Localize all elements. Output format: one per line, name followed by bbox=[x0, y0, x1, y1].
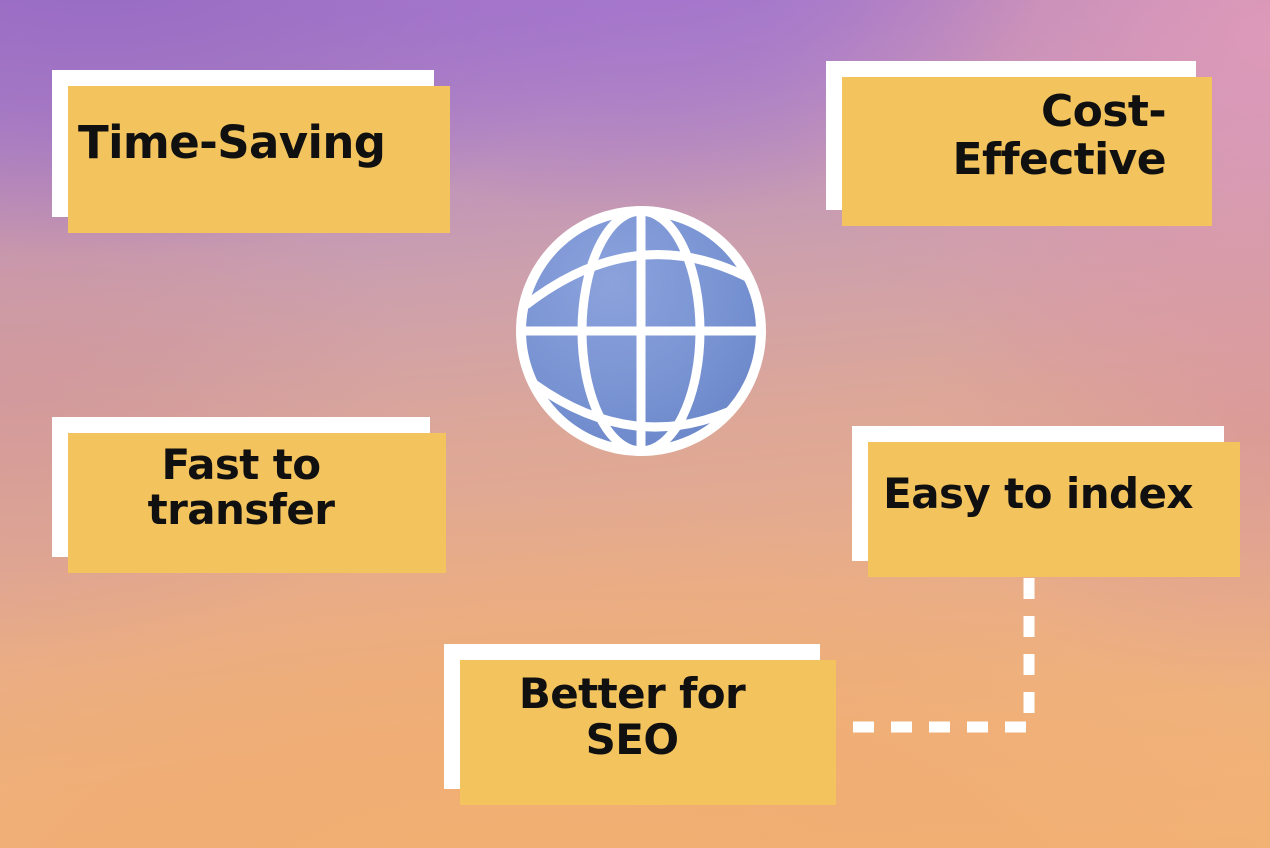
infographic-canvas: Time-Saving Cost- Effective Fast to tran… bbox=[0, 0, 1270, 848]
benefit-card-fast-to-transfer[interactable]: Fast to transfer bbox=[52, 417, 430, 557]
benefit-card-easy-to-index[interactable]: Easy to index bbox=[852, 426, 1224, 561]
benefit-card-better-for-seo[interactable]: Better for SEO bbox=[444, 644, 820, 789]
benefit-card-time-saving[interactable]: Time-Saving bbox=[52, 70, 434, 217]
dashed-connector-path bbox=[830, 578, 1029, 727]
benefit-card-label: Time-Saving bbox=[78, 119, 408, 168]
benefit-card-label: Easy to index bbox=[870, 471, 1206, 516]
benefit-card-cost-effective[interactable]: Cost- Effective bbox=[826, 61, 1196, 210]
benefit-card-label: Cost- Effective bbox=[852, 88, 1166, 183]
benefit-card-label: Fast to transfer bbox=[78, 442, 404, 533]
globe-icon bbox=[510, 200, 772, 462]
benefit-card-label: Better for SEO bbox=[470, 671, 794, 762]
